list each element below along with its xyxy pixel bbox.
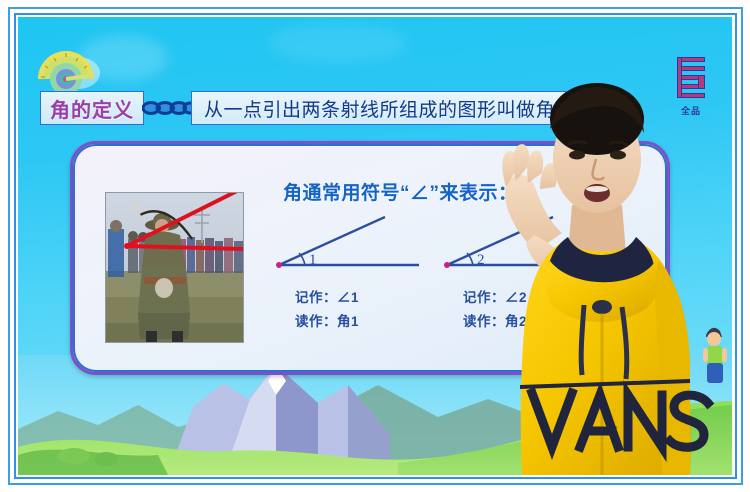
presenter-finger-3 [527,151,543,183]
shrub-2 [94,452,118,466]
angle1-read-as: 读作：角1 [295,310,359,330]
presenter-svg [476,55,716,475]
lesson-slide-canvas: 全品 角的定义 [18,17,732,475]
chain-link-svg [142,91,194,125]
video-player-frame: 全品 角的定义 [0,0,750,492]
angle1-vertex-dot [276,262,282,268]
presenter-drawstring-knot [592,300,612,314]
topic-badge: 角的定义 [40,91,144,125]
presenter-drawstring-left [581,305,584,375]
sky-highlight-2 [268,23,408,63]
angle-figure-1-svg: 1 [273,212,423,274]
protractor-svg [32,39,104,97]
presenter-eye-right [610,151,626,160]
presenter-eye-left [569,151,585,160]
protractor-icon [32,39,104,97]
shrub-1 [58,448,90,464]
presenter-head [550,83,644,213]
angle1-written-as: 记作：∠1 [295,286,359,306]
red-angle-vertex [124,243,130,249]
angle-figure-1: 1 [273,212,423,279]
angle2-vertex-dot [444,262,450,268]
presenter-video-figure [476,55,716,475]
archery-photo [105,192,244,343]
presenter-teeth [586,186,608,192]
angle1-ray-diagonal [279,217,385,265]
archery-photo-svg [106,193,244,343]
chain-link-icon [142,91,194,125]
angle1-label: 1 [309,252,317,268]
